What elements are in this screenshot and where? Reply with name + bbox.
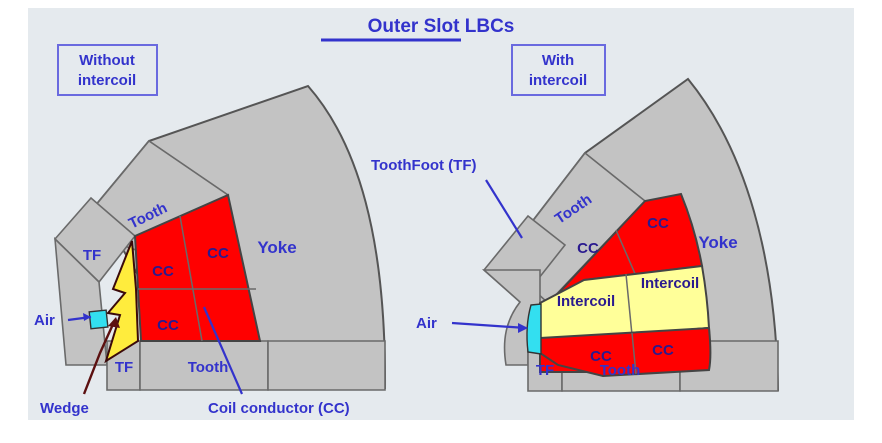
left-air-callout-label: Air — [34, 312, 55, 329]
right-air-region — [527, 304, 541, 354]
left-cc-label-3: CC — [157, 317, 179, 334]
right-intercoil-label-right: Intercoil — [641, 275, 699, 292]
left-tf-top-label: TF — [83, 247, 101, 264]
left-sector: Tooth TF TF Tooth Yoke CC CC CC Air Wedg… — [34, 86, 385, 417]
left-cc-callout-label: Coil conductor (CC) — [208, 400, 350, 417]
left-tag-line1: Without — [79, 52, 135, 69]
page-title: Outer Slot LBCs — [368, 16, 515, 37]
left-tf-bottom-label: TF — [115, 359, 133, 376]
left-yoke-bottom-strip — [268, 341, 385, 390]
diagram-canvas: Outer Slot LBCs Without intercoil With i… — [0, 0, 882, 443]
right-sector: Tooth TF Tooth Yoke CC CC CC CC Intercoi… — [371, 79, 778, 391]
right-tf-bottom-label: TF — [536, 362, 554, 379]
right-tag-line2: intercoil — [529, 72, 587, 89]
right-toothfoot-callout-label: ToothFoot (TF) — [371, 157, 477, 174]
left-air-region — [89, 310, 108, 329]
left-tag-line2: intercoil — [78, 72, 136, 89]
left-wedge-callout-label: Wedge — [40, 400, 89, 417]
left-yoke-label: Yoke — [257, 238, 296, 257]
right-cc-label-bottom-left: CC — [590, 348, 612, 365]
right-cc-label-top-left: CC — [577, 240, 599, 257]
left-panel-tag: Without intercoil — [58, 45, 157, 95]
right-toothfoot-leader-line — [486, 180, 522, 238]
right-yoke-label: Yoke — [698, 233, 737, 252]
right-panel-tag: With intercoil — [512, 45, 605, 95]
right-cc-label-bottom-right: CC — [652, 342, 674, 359]
right-tag-line1: With — [542, 52, 574, 69]
left-tooth-bottom-label: Tooth — [188, 359, 229, 376]
left-cc-label-2: CC — [207, 245, 229, 262]
diagram-background: Outer Slot LBCs Without intercoil With i… — [28, 8, 854, 420]
slot-cross-section-figure: Outer Slot LBCs Without intercoil With i… — [28, 8, 854, 420]
right-air-callout-label: Air — [416, 315, 437, 332]
left-cc-label-1: CC — [152, 263, 174, 280]
right-cc-label-top-right: CC — [647, 215, 669, 232]
right-intercoil-label-left: Intercoil — [557, 293, 615, 310]
